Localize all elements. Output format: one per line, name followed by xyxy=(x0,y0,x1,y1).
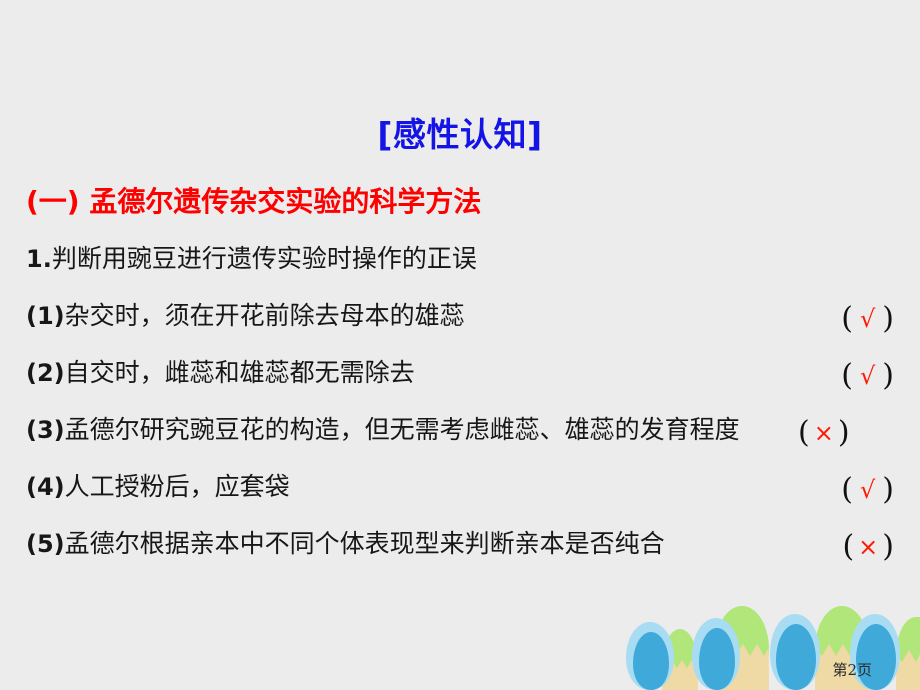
statement-text: (1)杂交时，须在开花前除去母本的雄蕊 xyxy=(26,299,465,333)
statement-row: (4)人工授粉后，应套袋 (√) xyxy=(0,467,920,524)
paren-open: ( xyxy=(841,358,853,393)
statement-body: 孟德尔根据亲本中不同个体表现型来判断亲本是否纯合 xyxy=(65,529,665,558)
statement-text: (2)自交时，雌蕊和雄蕊都无需除去 xyxy=(26,356,415,390)
statement-text: (4)人工授粉后，应套袋 xyxy=(26,470,290,504)
statement-row: (5)孟德尔根据亲本中不同个体表现型来判断亲本是否纯合 (×) xyxy=(0,524,920,581)
statement-index: (4) xyxy=(26,473,65,501)
question-stem-number: 1. xyxy=(26,245,52,273)
page-title: [感性认知] xyxy=(0,118,920,151)
paren-open: ( xyxy=(841,301,853,336)
slide-canvas: [感性认知] (一) 孟德尔遗传杂交实验的科学方法 1.判断用豌豆进行遗传实验时… xyxy=(0,0,920,690)
statement-body: 人工授粉后，应套袋 xyxy=(65,472,290,501)
question-stem: 1.判断用豌豆进行遗传实验时操作的正误 xyxy=(26,246,477,271)
statement-index: (5) xyxy=(26,530,65,558)
page-number: 第2页 xyxy=(832,663,872,678)
statement-text: (5)孟德尔根据亲本中不同个体表现型来判断亲本是否纯合 xyxy=(26,527,665,561)
paren-close: ) xyxy=(882,358,894,393)
answer-mark: √ xyxy=(853,476,882,504)
answer-box: (×) xyxy=(798,413,850,453)
answer-mark: × xyxy=(810,419,838,447)
answer-mark: √ xyxy=(853,362,882,390)
paren-close: ) xyxy=(882,472,894,507)
statement-index: (1) xyxy=(26,302,65,330)
answer-box: (√) xyxy=(841,299,894,339)
statement-index: (3) xyxy=(26,416,65,444)
statement-body: 孟德尔研究豌豆花的构造，但无需考虑雌蕊、雄蕊的发育程度 xyxy=(65,415,740,444)
statement-body: 自交时，雌蕊和雄蕊都无需除去 xyxy=(65,358,415,387)
statement-row: (1)杂交时，须在开花前除去母本的雄蕊 (√) xyxy=(0,296,920,353)
statement-row: (2)自交时，雌蕊和雄蕊都无需除去 (√) xyxy=(0,353,920,410)
paren-close: ) xyxy=(882,529,894,564)
paren-open: ( xyxy=(841,472,853,507)
green-egg-group xyxy=(662,606,920,690)
cracked-eggs-decoration-icon xyxy=(620,598,920,690)
statement-text: (3)孟德尔研究豌豆花的构造，但无需考虑雌蕊、雄蕊的发育程度 xyxy=(26,413,740,447)
question-stem-text: 判断用豌豆进行遗传实验时操作的正误 xyxy=(52,244,477,273)
statement-index: (2) xyxy=(26,359,65,387)
statement-row: (3)孟德尔研究豌豆花的构造，但无需考虑雌蕊、雄蕊的发育程度 (×) xyxy=(0,410,920,467)
answer-mark: × xyxy=(854,533,882,561)
paren-close: ) xyxy=(838,415,850,450)
paren-close: ) xyxy=(882,301,894,336)
answer-box: (×) xyxy=(842,527,894,567)
section-heading: (一) 孟德尔遗传杂交实验的科学方法 xyxy=(26,188,481,216)
answer-box: (√) xyxy=(841,470,894,510)
answer-mark: √ xyxy=(853,305,882,333)
paren-open: ( xyxy=(798,415,810,450)
paren-open: ( xyxy=(842,529,854,564)
statement-body: 杂交时，须在开花前除去母本的雄蕊 xyxy=(65,301,465,330)
answer-box: (√) xyxy=(841,356,894,396)
statement-list: (1)杂交时，须在开花前除去母本的雄蕊 (√) (2)自交时，雌蕊和雄蕊都无需除… xyxy=(0,296,920,581)
